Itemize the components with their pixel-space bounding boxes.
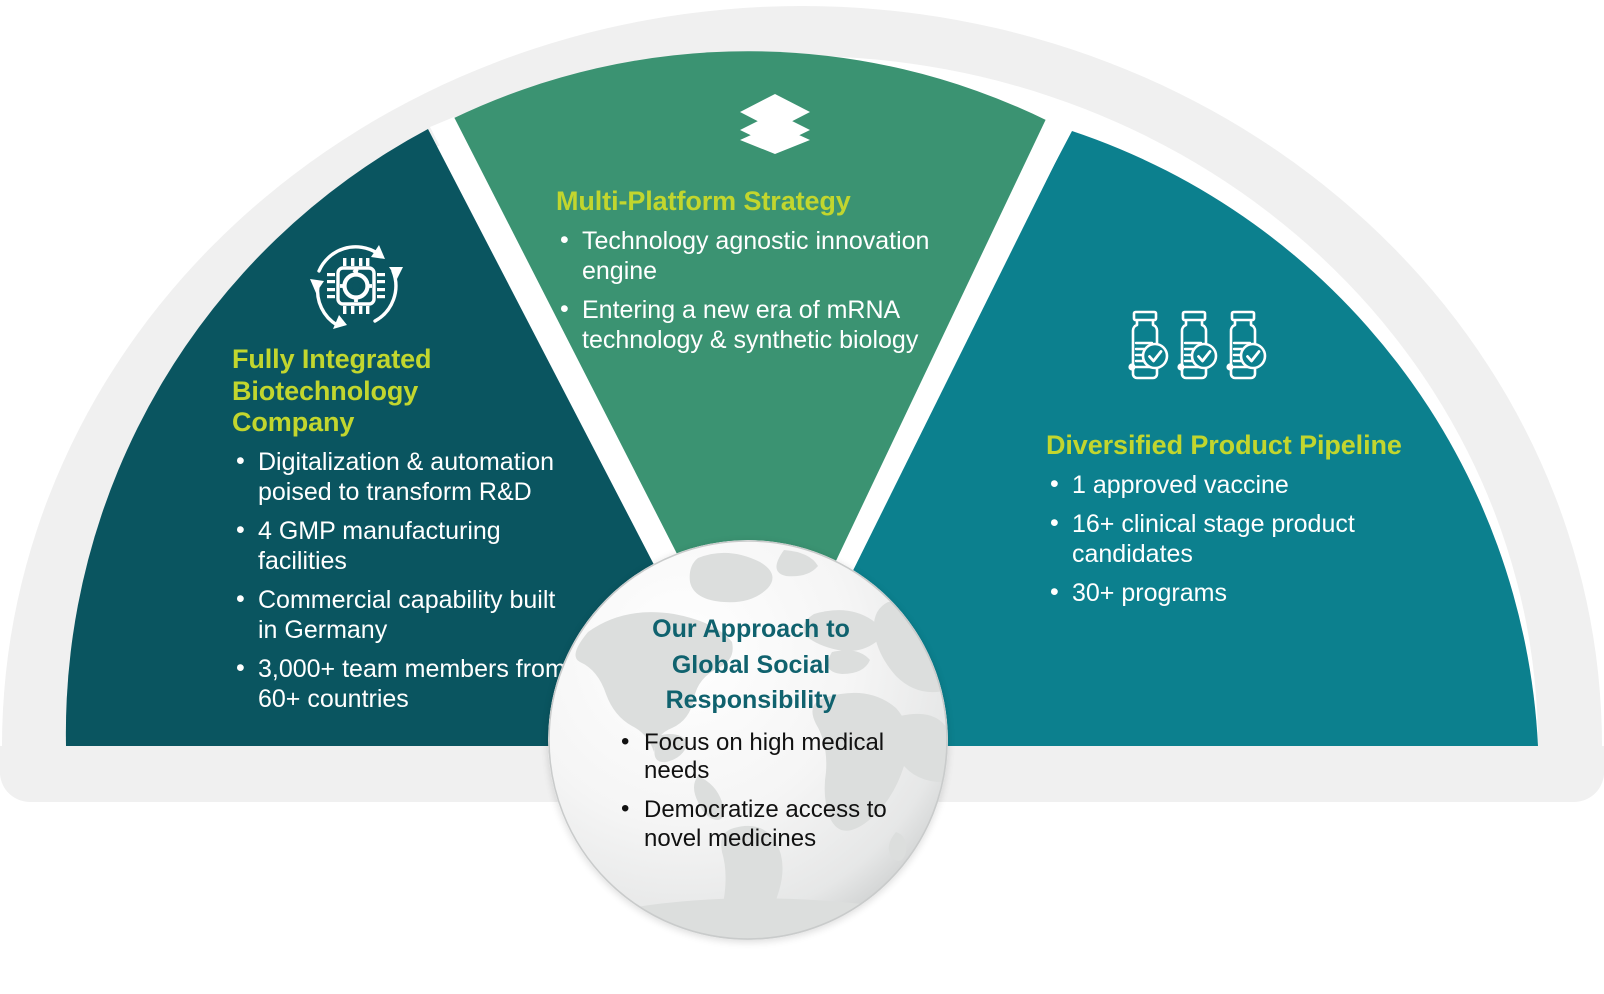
list-item: 30+ programs [1046, 578, 1416, 608]
list-item: Technology agnostic innovation engine [556, 226, 986, 286]
segment-right-heading: Diversified Product Pipeline [1046, 430, 1416, 462]
list-item: 16+ clinical stage product candidates [1046, 509, 1416, 569]
list-item: 1 approved vaccine [1046, 470, 1416, 500]
segment-left-bullets: Digitalization & automation poised to tr… [232, 447, 572, 714]
vaccine-vials-icon [1124, 310, 1272, 382]
segment-left[interactable]: Fully Integrated Biotechnology Company D… [232, 344, 572, 723]
layers-icon [736, 92, 814, 154]
chip-automation-icon [303, 233, 409, 339]
segment-right[interactable]: Diversified Product Pipeline 1 approved … [1046, 430, 1416, 617]
center-heading-line1: Our Approach to [652, 615, 850, 643]
center-heading: Our Approach to Global Social Responsibi… [578, 612, 924, 719]
list-item: 3,000+ team members from 60+ countries [232, 654, 572, 714]
list-item: Entering a new era of mRNA technology & … [556, 295, 986, 355]
segment-left-heading: Fully Integrated Biotechnology Company [232, 344, 482, 439]
list-item: Digitalization & automation poised to tr… [232, 447, 572, 507]
list-item: Focus on high medical needs [618, 729, 924, 787]
list-item: Commercial capability built in Germany [232, 585, 572, 645]
segment-right-bullets: 1 approved vaccine 16+ clinical stage pr… [1046, 470, 1416, 608]
center-heading-line2: Global Social [672, 651, 830, 679]
infographic-canvas: Fully Integrated Biotechnology Company D… [0, 0, 1604, 994]
center-globe-content[interactable]: Our Approach to Global Social Responsibi… [548, 540, 948, 940]
segment-middle[interactable]: Multi-Platform Strategy Technology agnos… [556, 186, 986, 364]
center-heading-line3: Responsibility [666, 686, 837, 714]
segment-middle-bullets: Technology agnostic innovation engine En… [556, 226, 986, 355]
center-bullets: Focus on high medical needs Democratize … [578, 729, 924, 854]
list-item: 4 GMP manufacturing facilities [232, 516, 572, 576]
list-item: Democratize access to novel medicines [618, 796, 924, 854]
segment-middle-heading: Multi-Platform Strategy [556, 186, 986, 218]
